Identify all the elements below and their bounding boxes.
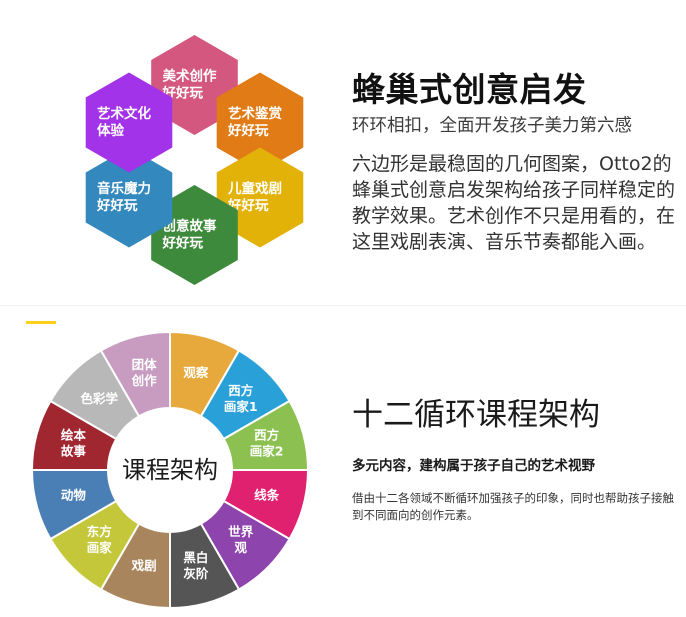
wheel-segment-label-line: 创作 [131,373,158,388]
hive-title: 蜂巢式创意启发 [352,72,682,109]
wheel-segment-label-line: 黑白 [183,550,208,565]
honeycomb-diagram: 美术创作好好玩艺术鉴赏好好玩儿童戏剧好好玩创意故事好好玩音乐魔力好好玩艺术文化体… [0,0,346,300]
hexagon-label-line: 美术创作 [163,68,217,85]
hexagon-label-line: 儿童戏剧 [227,180,282,197]
wheel-segment-label-line: 团体 [132,357,158,372]
hive-subtitle: 环环相扣，全面开发孩子美力第六感 [352,115,682,139]
wheel-segment-label-line: 线条 [254,487,280,502]
wheel-segment-label-line: 戏剧 [131,558,157,573]
section-divider [0,305,686,306]
wheel-segment-label-line: 世界 [228,524,254,539]
wheel-segment-label-line: 观察 [183,365,209,380]
cycle-copy-block: 十二循环课程架构 多元内容，建构属于孩子自己的艺术视野 借由十二各领域不断循环加… [352,398,682,525]
hexagon-label-line: 好好玩 [227,122,269,139]
hive-copy-block: 蜂巢式创意启发 环环相扣，全面开发孩子美力第六感 六边形是最稳固的几何图案，Ot… [352,72,682,255]
wheel-segment-label-line: 东方 [87,524,112,539]
wheel-segment-label-line: 观 [234,540,247,555]
wheel-segment-label-line: 动物 [61,487,87,502]
hive-body: 六边形是最稳固的几何图案，Otto2的蜂巢式创意启发架构给孩子同样稳定的教学效果… [352,151,682,256]
hexagon-label-line: 体验 [97,122,124,139]
wheel-segment-label-line: 西方 [228,383,253,398]
wheel-segment-label-line: 画家1 [224,399,258,414]
cycle-title: 十二循环课程架构 [352,398,682,432]
curriculum-wheel-diagram: 观察西方画家1西方画家2线条世界观黑白灰阶戏剧东方画家动物绘本故事色彩学团体创作… [18,318,328,617]
hexagon-label-line: 好好玩 [162,235,204,252]
wheel-segment-label-line: 画家2 [250,444,284,459]
wheel-segment-label-line: 色彩学 [81,391,119,406]
cycle-subtitle: 多元内容，建构属于孩子自己的艺术视野 [352,454,682,474]
wheel-segment-label-line: 西方 [254,428,279,443]
curriculum-wheel-svg: 观察西方画家1西方画家2线条世界观黑白灰阶戏剧东方画家动物绘本故事色彩学团体创作… [18,318,328,617]
wheel-segment-label-line: 灰阶 [183,566,209,581]
cycle-body: 借由十二各领域不断循环加强孩子的印象，同时也帮助孩子接触到不同面向的创作元素。 [352,490,682,525]
honeycomb-svg: 美术创作好好玩艺术鉴赏好好玩儿童戏剧好好玩创意故事好好玩音乐魔力好好玩艺术文化体… [0,0,346,300]
hexagon-label-line: 艺术鉴赏 [228,105,282,122]
wheel-center-label: 课程架构 [122,456,218,484]
hexagon-label-line: 好好玩 [96,197,138,214]
wheel-segment-label-line: 画家 [87,540,113,555]
hexagon-label-line: 音乐魔力 [97,180,151,197]
wheel-segment-label-line: 故事 [61,444,87,459]
hexagon-label-line: 艺术文化 [97,105,151,122]
wheel-segment-label-line: 绘本 [61,428,87,443]
